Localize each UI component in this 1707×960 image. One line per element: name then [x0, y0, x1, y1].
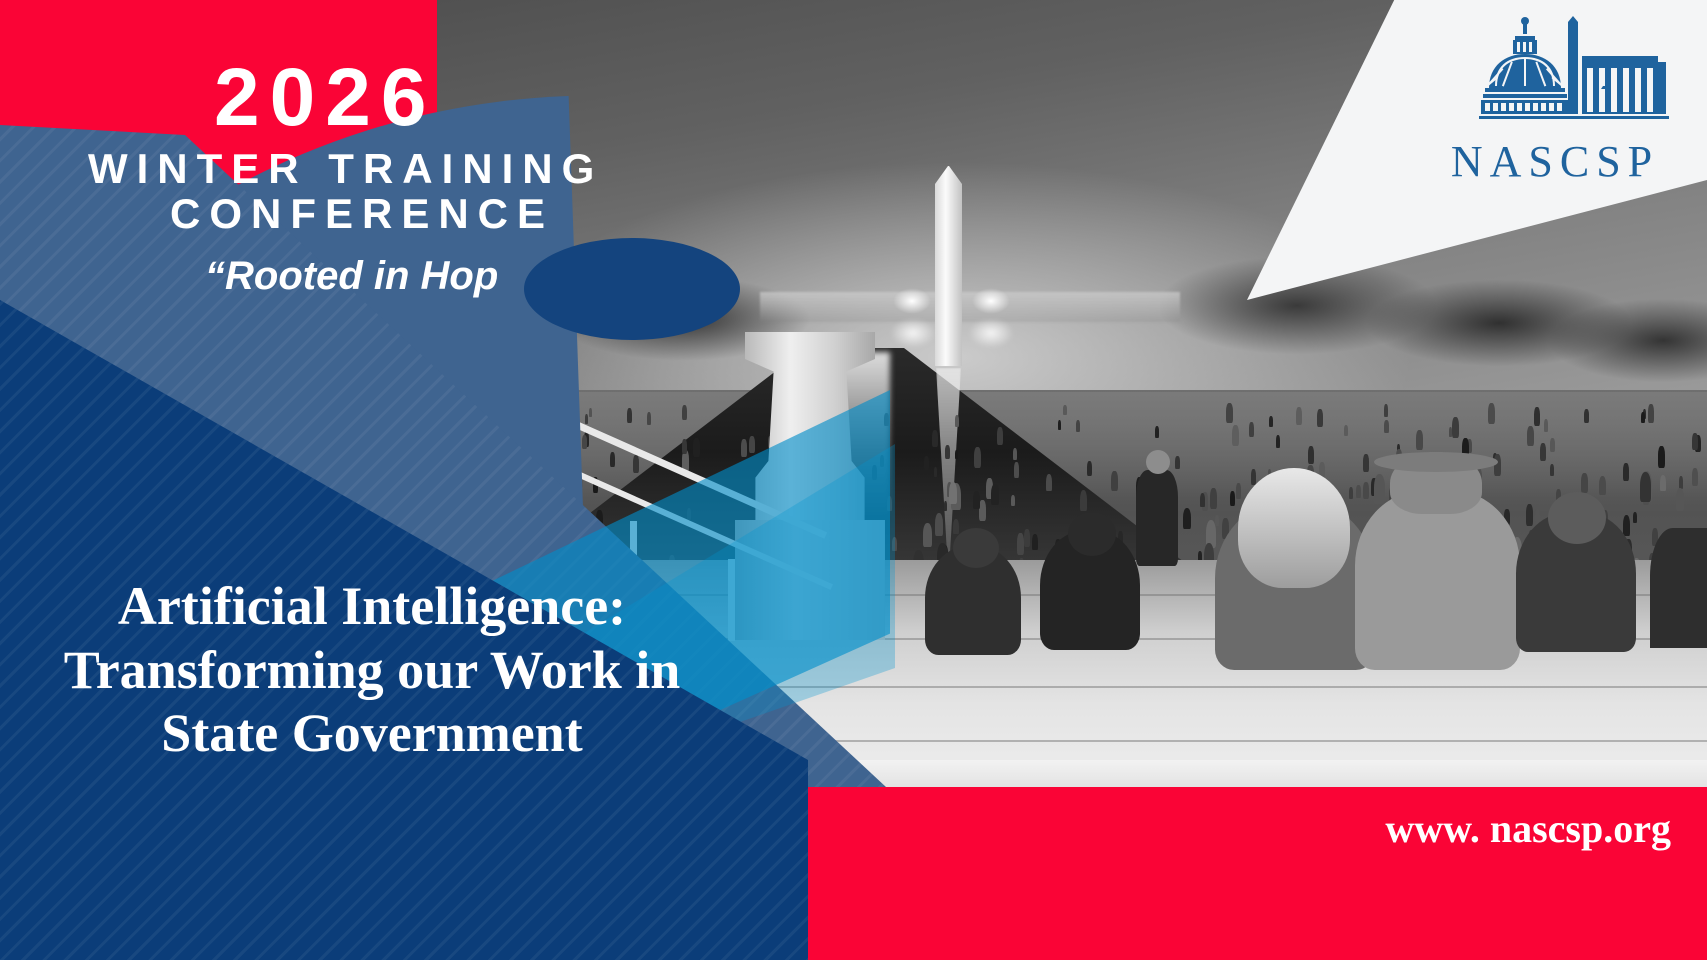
conference-line-1: WINTER TRAINING — [88, 148, 603, 190]
session-title: Artificial Intelligence: Transforming ou… — [22, 575, 722, 766]
conference-tagline: “Rooted in Hop — [205, 256, 498, 296]
floodlight-right-reflection — [968, 318, 1014, 348]
floodlight-left-reflection — [890, 318, 936, 348]
blue-ellipse-overlay — [524, 238, 740, 340]
washington-monument — [935, 166, 962, 366]
conference-banner: NASCSP 2026 WINTER TRAINING CONFERENCE “… — [0, 0, 1707, 960]
floodlight-right — [972, 288, 1010, 314]
year-label: 2026 — [214, 57, 436, 139]
nascsp-landmarks-icon — [1425, 12, 1685, 144]
nascsp-logo[interactable]: NASCSP — [1425, 12, 1685, 182]
tree-line-right — [1160, 232, 1707, 407]
distant-skyline — [760, 292, 1180, 322]
conference-line-2: CONFERENCE — [170, 193, 554, 235]
website-url[interactable]: www. nascsp.org — [1385, 805, 1671, 852]
logo-wordmark: NASCSP — [1425, 140, 1685, 184]
floodlight-left — [893, 288, 931, 314]
